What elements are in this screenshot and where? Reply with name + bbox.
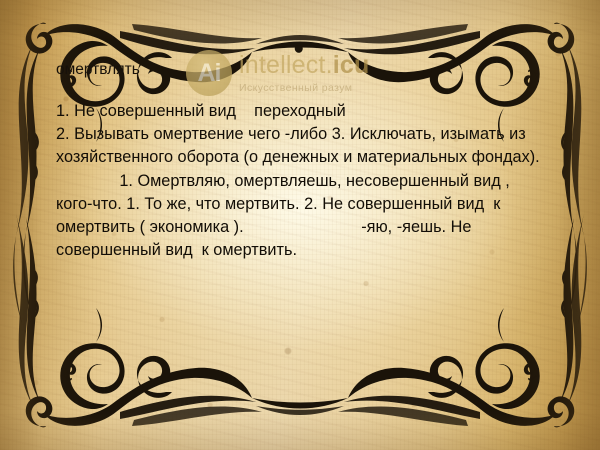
definition-text: 1. Не совершенный вид переходный 2. Вызы… — [56, 100, 542, 262]
headword: омертвлять — [56, 60, 542, 79]
article-content: омертвлять 1. Не совершенный вид переход… — [56, 60, 542, 262]
dictionary-entry-page: Ai intellect.icu Искусственный разум оме… — [0, 0, 600, 450]
